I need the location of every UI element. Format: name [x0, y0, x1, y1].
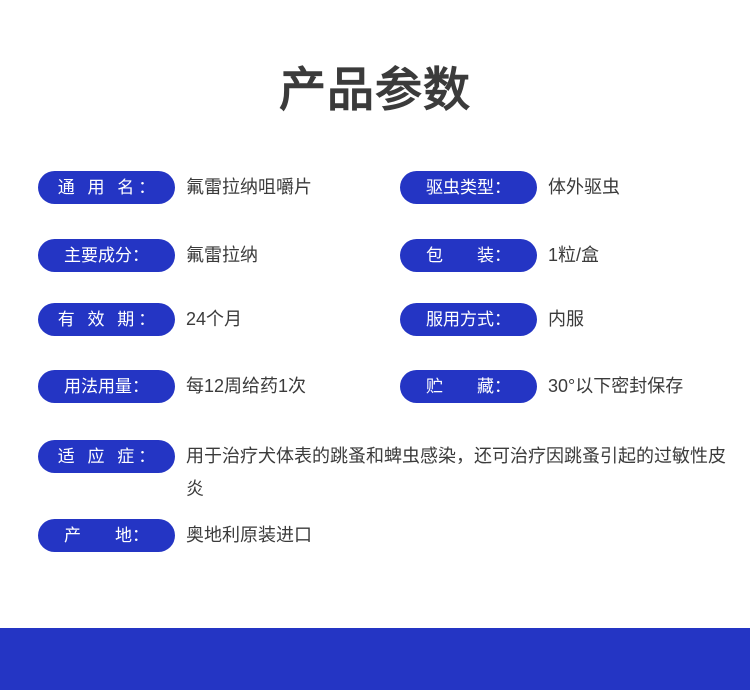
spec-label-main-ingredient: 主要成分：	[38, 239, 175, 272]
spec-row: 服用方式： 内服	[400, 303, 584, 336]
spec-label-shelf-life: 有 效 期：	[38, 303, 175, 336]
spec-row: 适 应 症： 用于治疗犬体表的跳蚤和蜱虫感染，还可治疗因跳蚤引起的过敏性皮炎	[38, 440, 726, 506]
spec-row: 用法用量： 每12周给药1次	[38, 370, 306, 403]
spec-row: 通 用 名： 氟雷拉纳咀嚼片	[38, 171, 312, 204]
spec-label-deworm-type: 驱虫类型：	[400, 171, 537, 204]
spec-row: 有 效 期： 24个月	[38, 303, 242, 336]
spec-label-administration: 服用方式：	[400, 303, 537, 336]
spec-value-dosage: 每12周给药1次	[186, 370, 306, 403]
spec-label-origin: 产 地：	[38, 519, 175, 552]
spec-row: 主要成分： 氟雷拉纳	[38, 239, 258, 272]
spec-value-origin: 奥地利原装进口	[186, 519, 312, 552]
product-spec-page: 产品参数 通 用 名： 氟雷拉纳咀嚼片 驱虫类型： 体外驱虫 主要成分： 氟雷拉…	[0, 0, 750, 690]
bottom-accent-bar	[0, 628, 750, 690]
spec-label-dosage: 用法用量：	[38, 370, 175, 403]
spec-label-storage: 贮 藏：	[400, 370, 537, 403]
spec-row: 贮 藏： 30°以下密封保存	[400, 370, 683, 403]
spec-grid: 通 用 名： 氟雷拉纳咀嚼片 驱虫类型： 体外驱虫 主要成分： 氟雷拉纳 包 装…	[0, 0, 750, 628]
spec-value-indications: 用于治疗犬体表的跳蚤和蜱虫感染，还可治疗因跳蚤引起的过敏性皮炎	[186, 440, 726, 506]
spec-value-storage: 30°以下密封保存	[548, 370, 683, 403]
spec-row: 产 地： 奥地利原装进口	[38, 519, 312, 552]
spec-row: 驱虫类型： 体外驱虫	[400, 171, 620, 204]
spec-value-packaging: 1粒/盒	[548, 239, 599, 272]
spec-label-packaging: 包 装：	[400, 239, 537, 272]
spec-value-administration: 内服	[548, 303, 584, 336]
spec-value-main-ingredient: 氟雷拉纳	[186, 239, 258, 272]
spec-label-general-name: 通 用 名：	[38, 171, 175, 204]
spec-value-general-name: 氟雷拉纳咀嚼片	[186, 171, 312, 204]
spec-value-shelf-life: 24个月	[186, 303, 242, 336]
spec-row: 包 装： 1粒/盒	[400, 239, 599, 272]
spec-label-indications: 适 应 症：	[38, 440, 175, 473]
spec-value-deworm-type: 体外驱虫	[548, 171, 620, 204]
